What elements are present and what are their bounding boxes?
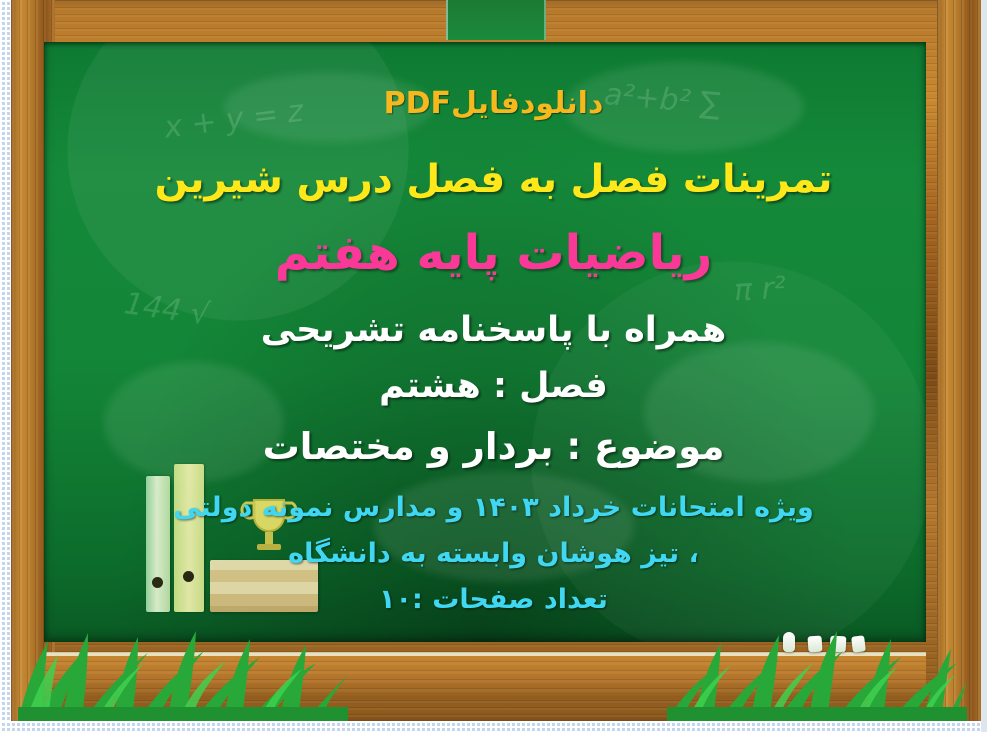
slide-canvas: x + y = z ∑ a²+b² π r² √ 144: [0, 0, 987, 732]
chapter-label: فصل : هشتم: [0, 368, 987, 405]
download-pdf-link[interactable]: دانلودفایلPDF: [0, 88, 987, 120]
headline-line-1: تمرینات فصل به فصل درس شیرین: [0, 160, 987, 201]
page-count-label: تعداد صفحات :۱۰: [0, 586, 987, 614]
exam-note-line-1: ویژه امتحانات خرداد ۱۴۰۳ و مدارس نمونه د…: [0, 494, 987, 522]
topic-label: موضوع : بردار و مختصات: [0, 428, 987, 467]
poster-text-block: دانلودفایلPDF تمرینات فصل به فصل درس شیر…: [0, 0, 987, 732]
answers-note: همراه با پاسخنامه تشریحی: [0, 312, 987, 349]
headline-line-2: ریاضیات پایه هفتم: [0, 228, 987, 278]
exam-note-line-2: ، تیز هوشان وابسته به دانشگاه: [0, 540, 987, 568]
